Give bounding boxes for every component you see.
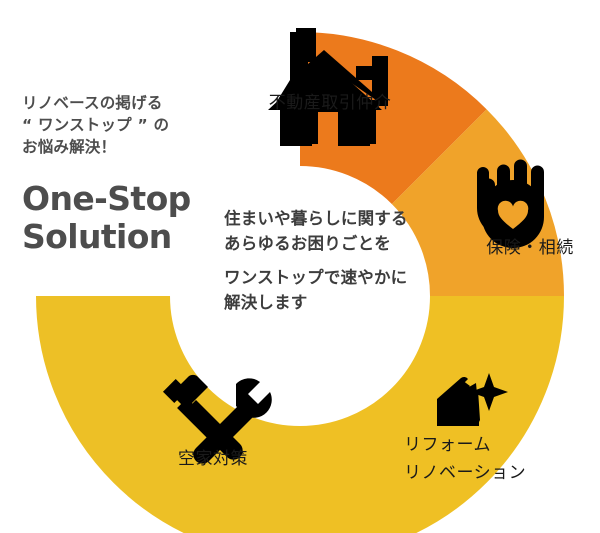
headline-line-1: One-Stop [22,180,232,218]
segment-vacant-house-label: 空家対策 [178,449,248,469]
center-text-block: 住まいや暮らしに関する あらゆるお困りごとを ワンストップで速やかに 解決します [224,206,464,315]
center-line-1: 住まいや暮らしに関する [224,206,464,231]
lead-line-2: “ ワンストップ ” の [22,114,232,136]
center-line-3: ワンストップで速やかに [224,265,464,290]
one-stop-solution-infographic: 不動産取引仲介 保険・相続 リフォーム リノベーション [0,0,600,533]
center-line-4: 解決します [224,290,464,315]
segment-renovation-label-line2: リノベーション [404,463,526,483]
segment-real-estate-label: 不動産取引仲介 [269,93,392,113]
segment-renovation-label-line1: リフォーム [404,435,491,455]
headline-line-2: Solution [22,218,232,256]
center-text-gap [224,256,464,265]
segment-insurance-label: 保険・相続 [486,238,574,258]
lead-line-3: お悩み解決！ [22,136,232,158]
lead-line-1: リノベースの掲げる [22,92,232,114]
center-line-2: あらゆるお困りごとを [224,231,464,256]
headline: One-Stop Solution [22,180,232,255]
left-text-block: リノベースの掲げる “ ワンストップ ” の お悩み解決！ One-Stop S… [22,92,232,255]
